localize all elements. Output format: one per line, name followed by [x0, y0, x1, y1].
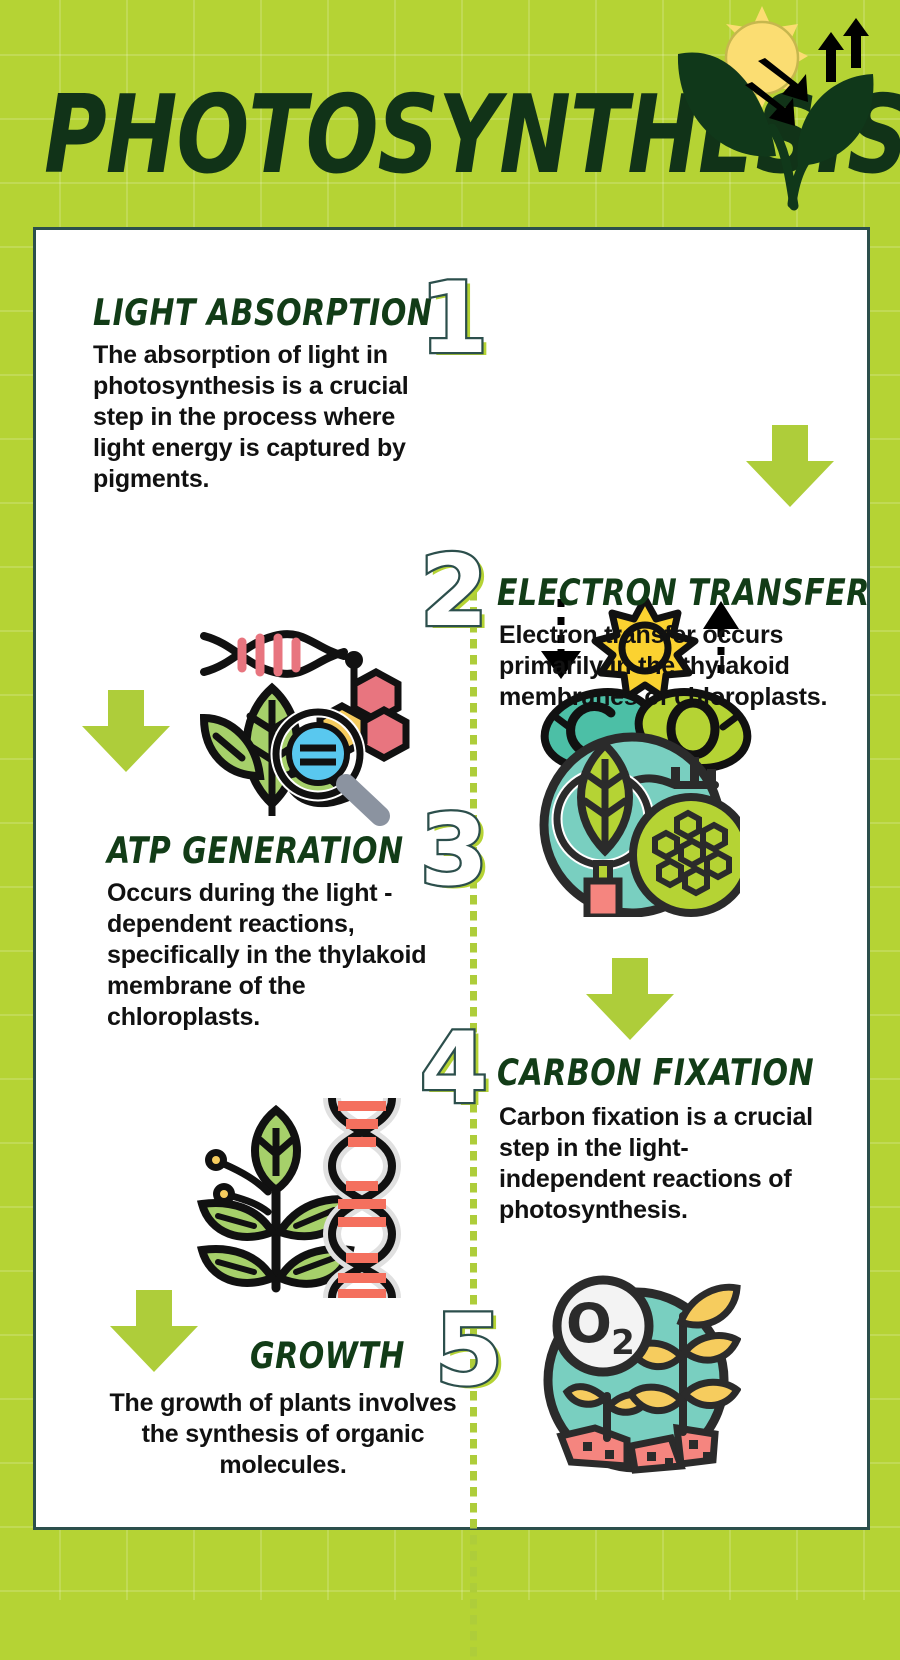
header: PHOTOSYNTHESIS — [0, 0, 900, 227]
step-number-2: 2 2 — [411, 551, 497, 647]
content-card: LIGHT ABSORPTION 1 1 The absorption of l… — [33, 227, 870, 1530]
step-body-3: Occurs during the light -dependent react… — [107, 878, 442, 1033]
step-number-4: 4 4 — [411, 1028, 497, 1124]
step-body-1: The absorption of light in photosynthesi… — [93, 340, 433, 495]
oxygen-sprouts-icon: O 2 — [531, 1270, 741, 1475]
plant-dna-helix-icon — [196, 1098, 411, 1298]
o2-label: O — [566, 1292, 612, 1355]
step-title-4: CARBON FIXATION — [497, 1052, 814, 1095]
down-arrow-icon-1 — [744, 425, 836, 509]
step-body-2: Electron transfer occurs primarily in th… — [499, 620, 859, 713]
step-body-4: Carbon fixation is a crucial step in the… — [499, 1102, 834, 1226]
chloroplast-leaf-magnifier-icon — [525, 727, 740, 917]
down-arrow-icon-2 — [80, 690, 172, 774]
step-title-5: GROWTH — [250, 1335, 405, 1378]
dna-leaf-molecule-magnifier-icon — [194, 626, 416, 826]
step-number-4-face: 4 — [420, 1012, 488, 1126]
o2-subscript: 2 — [611, 1323, 635, 1363]
step-title-1: LIGHT ABSORPTION — [93, 292, 432, 335]
sun-and-leaves-icon — [648, 6, 900, 211]
step-title-2: ELECTRON TRANSFER — [497, 572, 870, 615]
step-title-3: ATP GENERATION — [107, 830, 404, 873]
step-body-5: The growth of plants involves the synthe… — [108, 1388, 458, 1481]
step-number-2-face: 2 — [420, 535, 488, 649]
down-arrow-icon-3 — [584, 958, 676, 1042]
down-arrow-icon-4 — [108, 1290, 200, 1374]
